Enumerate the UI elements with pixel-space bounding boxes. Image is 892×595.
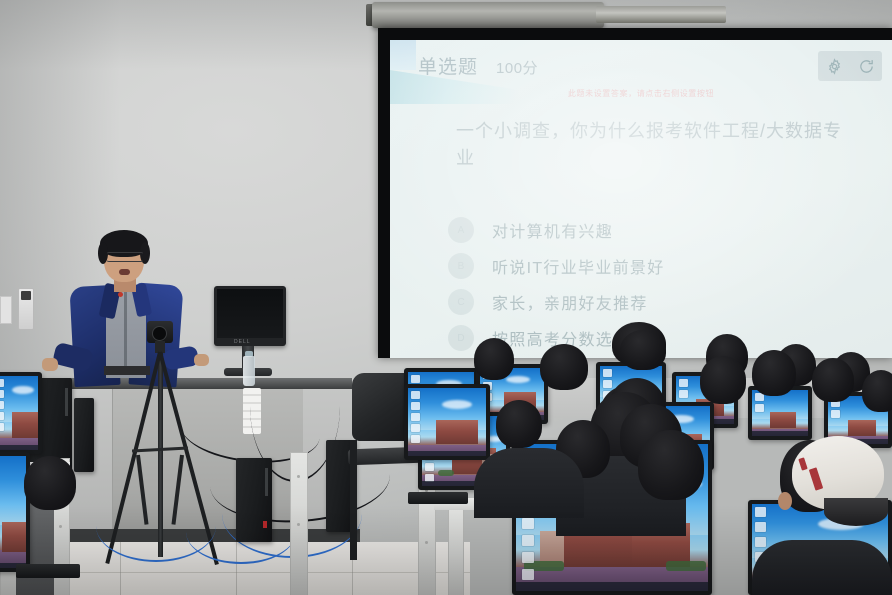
student-head [540,344,588,390]
desktop-icon[interactable] [755,522,766,532]
student-monitor [404,384,490,460]
projector-screen-roller-secondary [596,6,726,23]
monitor-brand-label: DELL [234,339,251,345]
student-monitor [0,372,42,454]
wallpaper-building [2,522,26,552]
wallpaper-cloud [12,386,34,394]
option-badge-b: B [448,253,474,279]
student-head [700,356,746,404]
student-shoulders [752,540,892,595]
desktop-icon[interactable] [522,569,534,580]
wallpaper-foliage [666,561,706,571]
desktop-icon[interactable] [755,507,766,517]
wallpaper-building [770,412,796,428]
desktop-icon[interactable] [411,413,420,421]
taskbar[interactable] [0,445,38,450]
projection-screen-surface: 单选题 100分 此题未设置答案， [390,40,892,358]
wallpaper-building [848,420,876,436]
instructor-mouth [119,269,130,275]
desktop-icon[interactable] [411,402,420,410]
tower-vent [65,388,68,416]
desktop-icon[interactable] [0,412,4,420]
desktop-icon[interactable] [411,424,420,432]
desktop-icon[interactable] [425,463,434,471]
desktop-tower [236,458,272,542]
student-head [496,400,542,448]
taskbar[interactable] [408,451,486,456]
desktop-icon[interactable] [679,379,688,387]
instructor-monitor-screen [217,289,283,338]
instructor-belt [104,366,150,375]
instructor-hand-left [42,358,58,371]
desktop-icon[interactable] [0,379,4,387]
taskbar[interactable] [516,582,708,591]
desk-partition [290,452,308,595]
student-monitor-screen [0,376,38,450]
wallpaper-foliage [438,470,454,476]
option-badge-a: A [448,217,474,243]
student-head [812,358,854,402]
baseball-cap-brim [824,498,888,526]
tower-vent [265,468,268,496]
slide-header: 单选题 100分 [418,52,538,79]
student-head [752,350,796,396]
option-row-a[interactable]: A 对计算机有兴趣 [448,212,868,248]
instructor-hand-right [194,354,209,366]
student-head [862,370,892,412]
option-badge-c: C [448,289,474,315]
refresh-icon[interactable] [858,58,875,75]
desktop-icons[interactable] [755,393,769,412]
wall-plate [0,296,12,324]
desktop-tower [74,398,94,472]
student-monitor-screen [0,456,26,568]
desktop-icon[interactable] [755,404,764,412]
desktop-icon[interactable] [411,375,420,383]
student-shoulders [474,448,584,518]
option-row-b[interactable]: B 听说IT行业毕业前景好 [448,248,868,284]
projection-screen-frame: 单选题 100分 此题未设置答案， [378,28,892,358]
desktop-icon[interactable] [603,369,612,377]
question-score-label: 100分 [496,57,538,78]
partition-screw [297,475,300,478]
desktop-icons[interactable] [411,391,425,443]
classroom-scene: 单选题 100分 此题未设置答案， [0,0,892,595]
student-monitor-screen [408,388,486,456]
wallpaper-building [436,420,478,444]
desktop-icon[interactable] [603,380,612,388]
slide-accent-bar [390,40,416,70]
student-head [620,330,666,370]
keyboard[interactable] [16,564,80,578]
slide-toolbar[interactable] [818,51,882,81]
keyboard[interactable] [408,492,468,504]
glasses-icon [106,252,144,262]
question-text: 一个小调查，你为什么报考软件工程/大数据专业 [456,118,856,172]
answer-not-set-hint: 此题未设置答案，请点击右侧设置按钮 [390,88,892,99]
option-row-c[interactable]: C 家长，亲朋好友推荐 [448,284,868,320]
tower-power-led [263,521,267,528]
wallpaper-building [12,412,38,438]
option-badge-d: D [448,325,474,351]
instructor-shirt-placket [124,290,127,370]
partition-screw [297,523,300,526]
desktop-icon[interactable] [522,552,534,563]
option-text-a: 对计算机有兴趣 [492,218,613,242]
desktop-icons[interactable] [0,379,9,431]
desktop-icons[interactable] [679,379,693,398]
office-chair-post [350,440,357,560]
student-head [24,456,76,510]
student-ear [778,492,792,510]
student-head [638,430,704,500]
desktop-icon[interactable] [0,401,4,409]
option-text-b: 听说IT行业毕业前景好 [492,254,665,278]
taskbar[interactable] [752,431,808,436]
option-text-c: 家长，亲朋好友推荐 [492,290,648,314]
desktop-icon[interactable] [522,535,534,546]
projector-screen-roller [372,2,604,28]
desktop-icon[interactable] [411,435,420,443]
question-type-label: 单选题 [418,52,478,79]
wall-mounted-device [18,288,34,330]
wallpaper-cloud [506,376,530,383]
camera-lens-icon [152,326,167,341]
desktop-icon[interactable] [0,390,4,398]
desktop-icon[interactable] [0,423,4,431]
partition-screw [425,541,428,544]
wallpaper-sky [0,456,26,525]
partition-screw [59,525,62,528]
gear-icon[interactable] [826,58,843,75]
desktop-icon[interactable] [831,410,840,418]
wallpaper-cloud [442,400,472,409]
instructor [66,228,206,388]
desktop-icon[interactable] [755,537,766,547]
desk-partition [448,500,464,595]
student-monitor [0,452,30,572]
lapel-mic-icon [118,292,123,297]
student-monitor-screen [752,390,808,436]
student-head [474,338,514,380]
desktop-icon[interactable] [679,390,688,398]
desktop-icon[interactable] [522,518,534,529]
desktop-icon[interactable] [411,391,420,399]
